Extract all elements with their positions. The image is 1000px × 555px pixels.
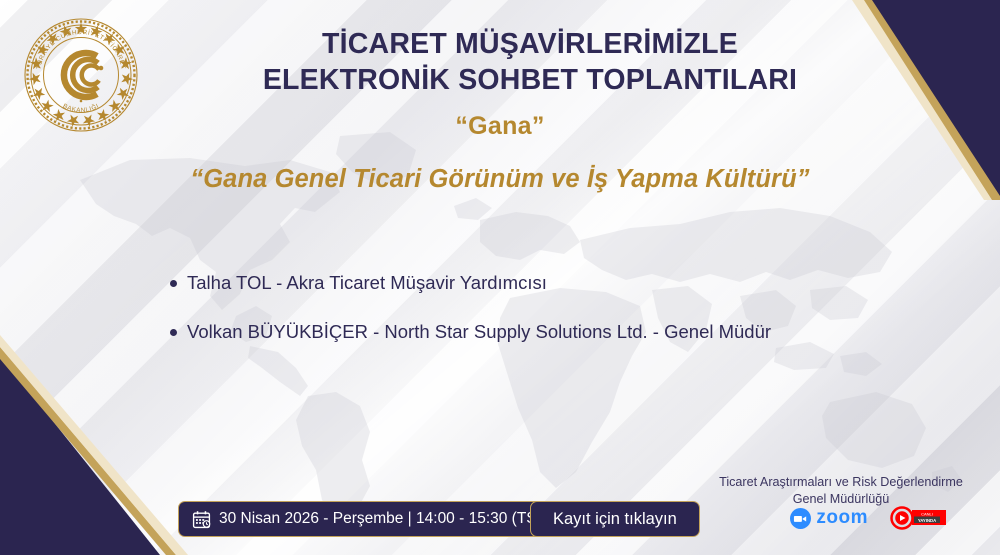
- register-button-label: Kayıt için tıklayın: [553, 510, 677, 529]
- bullet-icon: [170, 280, 177, 287]
- youtube-live-badge-icon: CANLI YAYINDA: [890, 506, 948, 530]
- zoom-logo: zoom: [790, 507, 868, 529]
- svg-text:YAYINDA: YAYINDA: [918, 518, 936, 523]
- list-item: Volkan BÜYÜKBİÇER - North Star Supply So…: [170, 321, 890, 343]
- register-button[interactable]: Kayıt için tıklayın: [530, 501, 700, 537]
- country-name: “Gana”: [0, 112, 1000, 141]
- webinar-poster: TÜRKİYE CUMHURİYETİ TİCARET BAKANLIĞI Tİ…: [0, 0, 1000, 555]
- poster-title: TİCARET MÜŞAVİRLERİMİZLE ELEKTRONİK SOHB…: [150, 26, 910, 99]
- speaker-list: Talha TOL - Akra Ticaret Müşavir Yardımc…: [170, 272, 890, 370]
- speaker-name: Talha TOL - Akra Ticaret Müşavir Yardımc…: [187, 272, 547, 294]
- calendar-clock-icon: [192, 510, 211, 529]
- bullet-icon: [170, 329, 177, 336]
- topic-subtitle: “Gana Genel Ticari Görünüm ve İş Yapma K…: [0, 165, 1000, 194]
- department-line-2: Genel Müdürlüğü: [696, 491, 986, 508]
- zoom-wordmark: zoom: [816, 507, 868, 529]
- title-line-1: TİCARET MÜŞAVİRLERİMİZLE: [150, 26, 910, 62]
- list-item: Talha TOL - Akra Ticaret Müşavir Yardımc…: [170, 272, 890, 294]
- broadcast-platform-logos: zoom CANLI YAYINDA: [790, 506, 948, 530]
- event-date-text: 30 Nisan 2026 - Perşembe | 14:00 - 15:30…: [219, 510, 546, 528]
- title-line-2: ELEKTRONİK SOHBET TOPLANTILARI: [150, 62, 910, 98]
- department-name: Ticaret Araştırmaları ve Risk Değerlendi…: [696, 474, 986, 507]
- event-date-badge: 30 Nisan 2026 - Perşembe | 14:00 - 15:30…: [178, 501, 560, 537]
- speaker-name: Volkan BÜYÜKBİÇER - North Star Supply So…: [187, 321, 771, 343]
- department-line-1: Ticaret Araştırmaları ve Risk Değerlendi…: [696, 474, 986, 491]
- svg-text:CANLI: CANLI: [921, 512, 933, 517]
- zoom-camera-icon: [790, 508, 811, 529]
